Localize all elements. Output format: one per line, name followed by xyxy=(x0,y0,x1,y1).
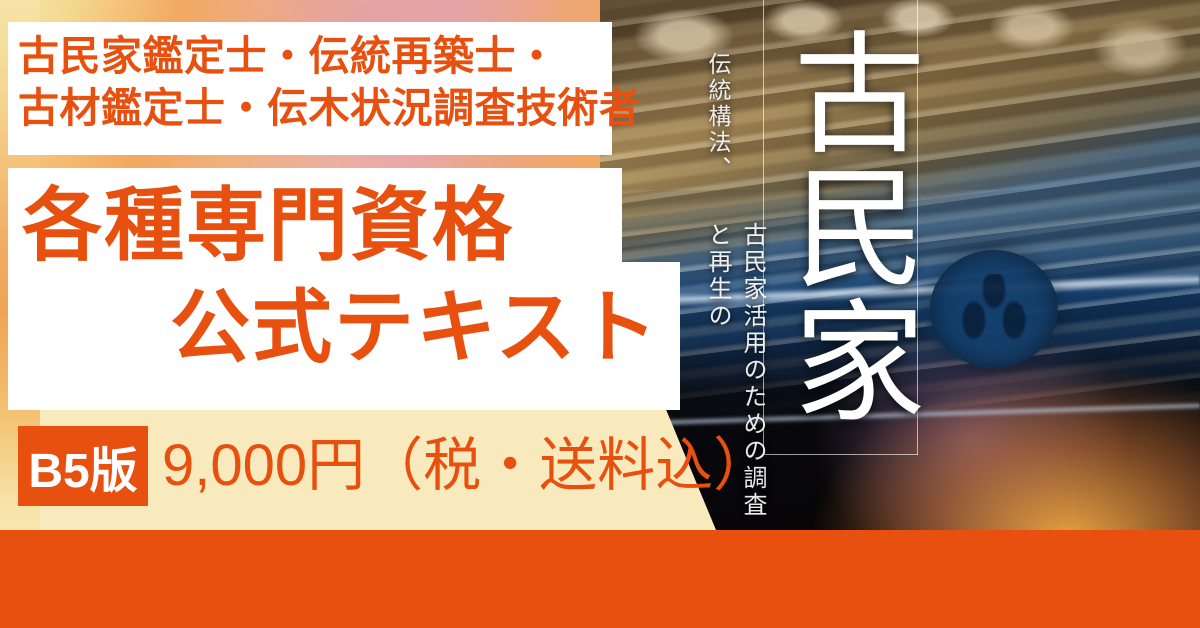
cta-bar[interactable]: 詳細・ご購入はこちら xyxy=(0,530,1200,628)
certifications-text: 古民家鑑定士・伝統再築士・ 古材鑑定士・伝木状況調査技術者 xyxy=(18,30,718,135)
promo-banner: 伝統構法、 古民家活用のための調査と再生の 古民家 古民家鑑定士・伝統再築士・ … xyxy=(0,0,1200,628)
book-cover-title: 古民家 xyxy=(772,6,912,446)
price-text: 9,000円（税・送料込） xyxy=(162,430,771,502)
cover-rule-bottom xyxy=(763,454,918,455)
headline-line-2: 公式テキスト xyxy=(170,288,660,368)
headline-line-1: 各種専門資格 xyxy=(22,186,514,266)
size-badge: B5版 xyxy=(18,426,148,506)
family-crest-medallion-icon xyxy=(930,250,1058,368)
certifications-line-1: 古民家鑑定士・伝統再築士・ xyxy=(18,30,718,82)
certifications-line-2: 古材鑑定士・伝木状況調査技術者 xyxy=(18,82,718,134)
